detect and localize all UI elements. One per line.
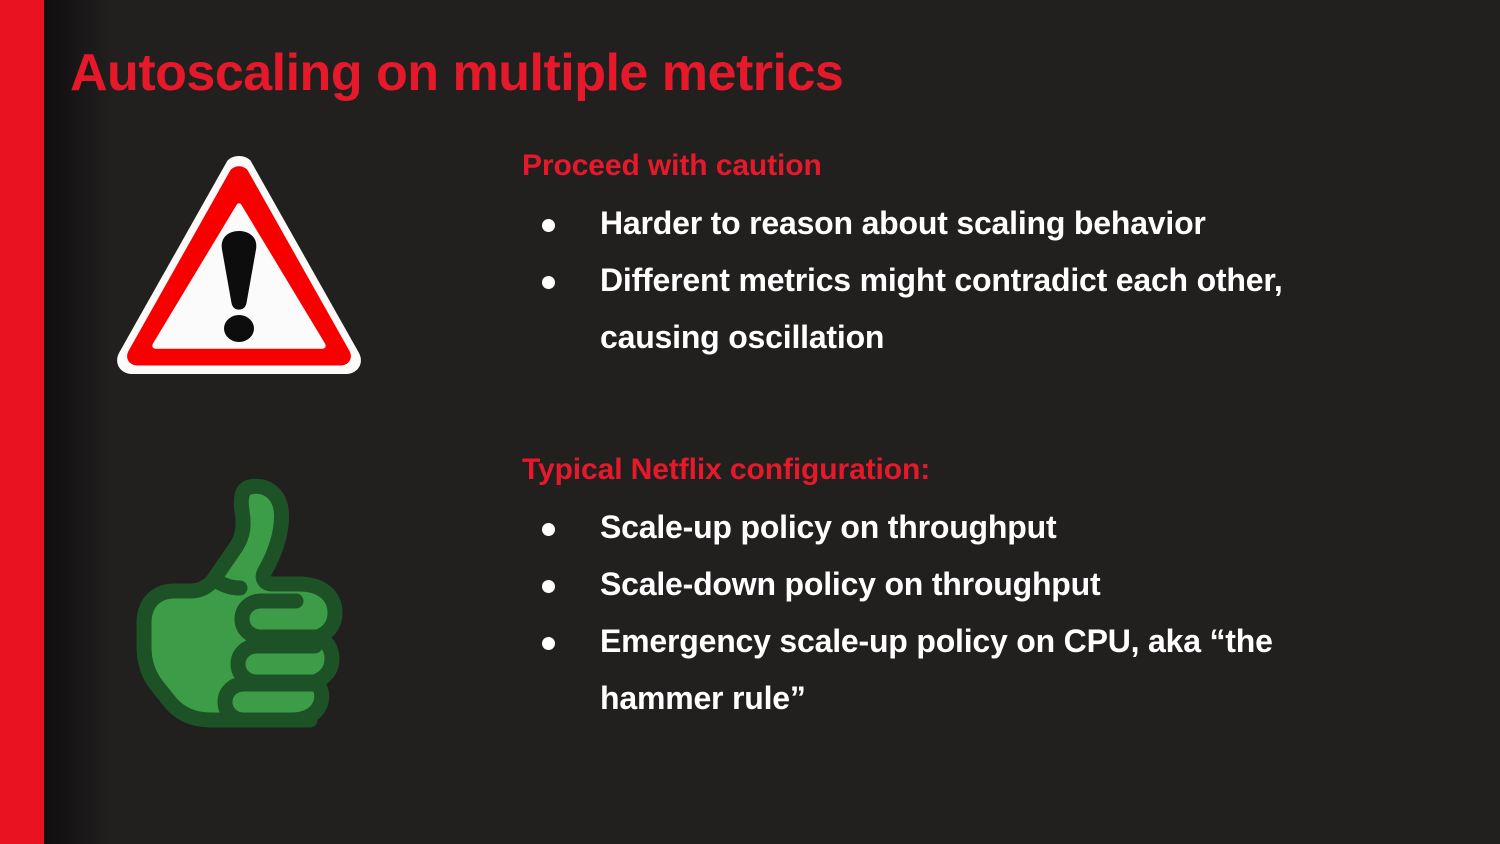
list-item: Scale-up policy on throughput [522, 499, 1352, 556]
block-config: Typical Netflix configuration: Scale-up … [522, 452, 1422, 727]
block-caution: Proceed with caution Harder to reason ab… [522, 148, 1422, 366]
list-item: Harder to reason about scaling behavior [522, 195, 1352, 252]
list-item: Different metrics might contradict each … [522, 252, 1352, 366]
warning-triangle-icon [110, 148, 368, 380]
slide: Autoscaling on multiple metrics [0, 0, 1500, 844]
list-item: Scale-down policy on throughput [522, 556, 1352, 613]
slide-body: Proceed with caution Harder to reason ab… [522, 148, 1422, 366]
page-title: Autoscaling on multiple metrics [70, 44, 1070, 102]
block-config-bullets: Scale-up policy on throughput Scale-down… [522, 499, 1422, 727]
block-caution-heading: Proceed with caution [522, 148, 1422, 183]
list-item: Emergency scale-up policy on CPU, aka “t… [522, 613, 1352, 727]
left-accent-bar [0, 0, 44, 844]
thumbs-up-icon [118, 473, 368, 728]
block-caution-bullets: Harder to reason about scaling behavior … [522, 195, 1422, 366]
accent-bar-shadow [44, 0, 114, 844]
block-config-heading: Typical Netflix configuration: [522, 452, 1422, 487]
